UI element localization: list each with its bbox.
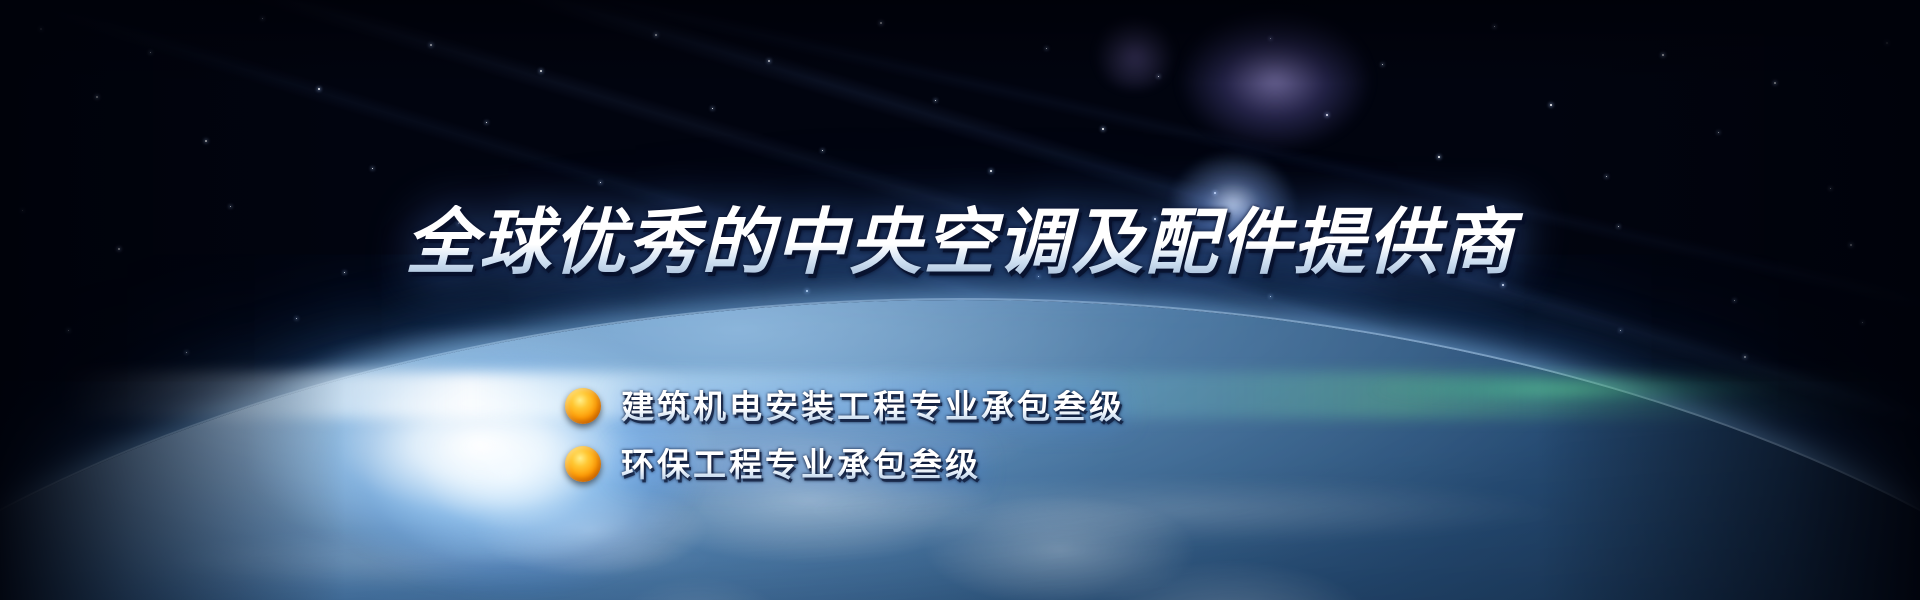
hero-banner: 全球优秀的中央空调及配件提供商 建筑机电安装工程专业承包叁级 环保工程专业承包叁… xyxy=(0,0,1920,600)
